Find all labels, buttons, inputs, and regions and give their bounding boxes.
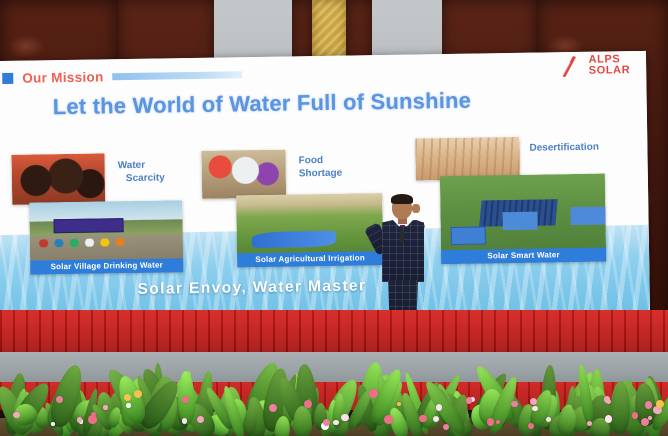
photo-solar-village-drinking-water: Solar Village Drinking Water (29, 200, 183, 274)
plant-leaf (609, 381, 630, 435)
plant-flower (182, 418, 187, 423)
plant-flower (56, 396, 63, 403)
header-accent-bar (113, 71, 243, 80)
plant-flower (88, 415, 97, 424)
presenter-hair (391, 194, 413, 204)
plant-flower (77, 417, 82, 422)
plant-flower (182, 396, 189, 403)
plant-flower (103, 405, 107, 409)
plant-flower (656, 400, 664, 408)
caption-solar-agricultural-irrigation: Solar Agricultural Irrigation (237, 251, 383, 267)
logo-line-2: SOLAR (589, 65, 631, 77)
foreground-plant-row (0, 338, 668, 436)
plant-flower (496, 420, 500, 424)
caption-solar-smart-water: Solar Smart Water (441, 248, 606, 265)
slide-title: Let the World of Water Full of Sunshine (53, 88, 472, 121)
mountain-slash-icon (560, 54, 582, 78)
label-water-scarcity-line1: Water (118, 160, 146, 172)
photo-art-children-drinking (11, 153, 105, 204)
photo-solar-smart-water: Solar Smart Water (440, 174, 606, 265)
photo-water-scarcity (11, 153, 105, 204)
plant-flower (632, 412, 639, 419)
plant-flower (134, 390, 142, 398)
presentation-scene: Our Mission ALPS SOLAR Let the World of … (0, 0, 668, 436)
caption-solar-village-drinking-water: Solar Village Drinking Water (30, 258, 183, 274)
photo-art-food-distribution (201, 150, 286, 199)
section-label: Our Mission (22, 69, 104, 85)
logo-text: ALPS SOLAR (588, 54, 630, 77)
plant-flower (397, 402, 401, 406)
plant-flower (419, 415, 426, 422)
label-food-shortage-line2: Shortage (299, 168, 343, 181)
plant-flower (587, 421, 592, 426)
plant-flower (269, 404, 277, 412)
label-food-shortage-line1: Food (299, 155, 324, 167)
alps-solar-logo: ALPS SOLAR (560, 53, 630, 78)
microphone-icon (400, 230, 404, 243)
slide-tagline: Solar Envoy, Water Master (137, 277, 366, 299)
plant-flower (443, 424, 449, 430)
photo-food-shortage (201, 150, 286, 199)
label-desertification: Desertification (529, 142, 599, 155)
photo-desertification (415, 137, 520, 181)
plant-flower (436, 404, 443, 411)
presenter-raised-hand (412, 204, 420, 213)
label-water-scarcity-line2: Scarcity (126, 172, 165, 185)
plant-flower (384, 415, 393, 424)
header-square-icon (2, 73, 13, 84)
plant-flower (341, 414, 349, 422)
plant-flower (13, 412, 20, 419)
plant-flower (369, 389, 378, 398)
plant-flower (466, 397, 473, 404)
projection-screen: Our Mission ALPS SOLAR Let the World of … (0, 51, 650, 321)
presentation-slide: Our Mission ALPS SOLAR Let the World of … (0, 51, 650, 321)
plant-flower (124, 394, 131, 401)
photo-solar-agricultural-irrigation: Solar Agricultural Irrigation (236, 193, 383, 267)
plant-flower (546, 417, 551, 422)
photo-art-cracked-dry-land (415, 137, 520, 181)
slide-header: Our Mission (2, 61, 650, 86)
plant-flower (126, 403, 131, 408)
